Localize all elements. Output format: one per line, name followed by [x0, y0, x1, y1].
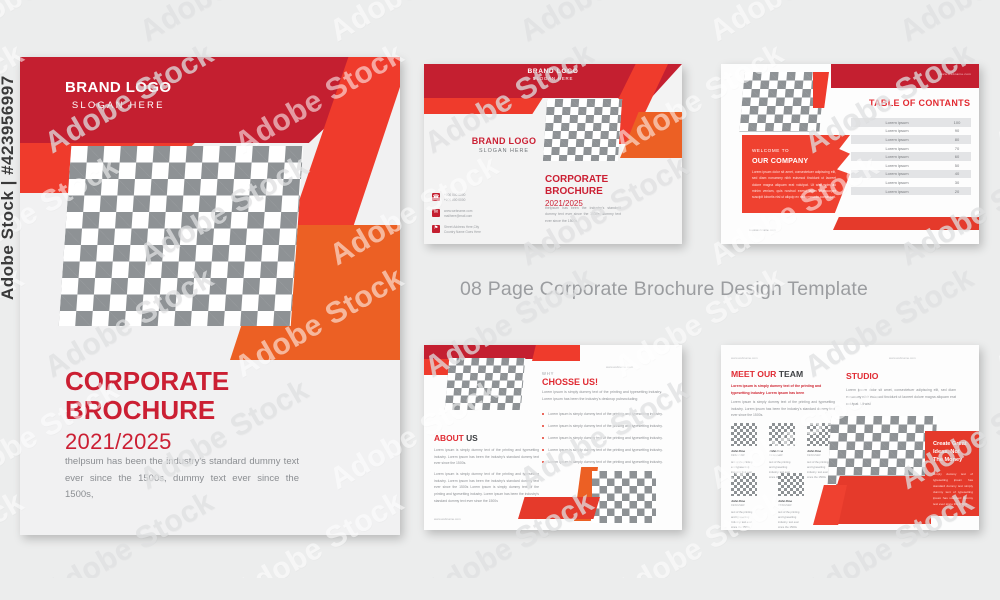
- watermark-text: Adobe Stock: [134, 0, 315, 49]
- cover-body-text: thelpsum has been the industry's standar…: [65, 454, 299, 504]
- toc-table: Lorem ipsum100Lorem ipsum90Lorem ipsum80…: [851, 118, 971, 195]
- bullet-item: Lorem ipsum is simply dummy text of the …: [542, 459, 664, 465]
- cover-title-line2: BROCHURE: [65, 396, 229, 425]
- sp1-contact-list: ☎+000 000 0000+000 000 0000✉www.webname.…: [432, 193, 481, 241]
- toc-row-number: 90: [943, 128, 971, 133]
- sp4-quote-line2: Ideas, Not: [933, 448, 973, 456]
- contact-text: Street Address Here,CityCountry Name Goe…: [444, 225, 481, 236]
- sp2-bottom-red-band: [833, 217, 979, 230]
- sp3-about-p2: Lorem ipsum is simply dummy text of the …: [434, 471, 539, 504]
- team-member-card[interactable]: John DoeDESIGNERtext of the printing and…: [769, 423, 795, 480]
- bullet-text: Lorem ipsum is simply dummy text of the …: [548, 459, 663, 465]
- toc-row-label: Lorem ipsum: [851, 128, 943, 133]
- cover-image-placeholder[interactable]: [59, 146, 304, 326]
- bullet-item: Lorem ipsum is simply dummy text of the …: [542, 411, 664, 417]
- cover-title-line1: CORPORATE: [65, 367, 229, 396]
- team-photo-placeholder[interactable]: [731, 423, 757, 446]
- sp3-image-placeholder-2[interactable]: [592, 471, 656, 523]
- bullet-item: Lorem ipsum is simply dummy text of the …: [542, 423, 664, 429]
- sp3-why-heading-block: WHY CHOSSE US!: [542, 371, 598, 387]
- sp2-red-tab-shape: [813, 72, 829, 108]
- team-photo-placeholder[interactable]: [769, 423, 795, 446]
- team-photo-placeholder[interactable]: [731, 473, 757, 496]
- toc-row[interactable]: Lorem ipsum90: [851, 127, 971, 136]
- sp3-about-title-b: US: [466, 433, 478, 443]
- team-member-role: DESIGNER: [769, 454, 795, 457]
- toc-row-number: 60: [943, 154, 971, 159]
- toc-row[interactable]: Lorem ipsum20: [851, 187, 971, 196]
- checkerboard-placeholder: [592, 471, 656, 523]
- sp1-header-logo-block: BRAND LOGO SLOGAN HERE: [424, 68, 682, 81]
- checkerboard-placeholder: [59, 146, 304, 326]
- team-photo-placeholder[interactable]: [778, 473, 804, 496]
- bullet-text: Lorem ipsum is simply dummy text of the …: [548, 435, 663, 441]
- sp3-bottom-red-band: [518, 497, 600, 519]
- sp2-toc-title: TABLE OF CONTANTS: [869, 98, 970, 108]
- sp1-brand-logo: BRAND LOGO: [454, 136, 554, 146]
- watermark-text: Adobe Stock: [324, 0, 505, 49]
- sp2-welcome-body: Lorem ipsum dolor sit amet, consectetuer…: [752, 169, 836, 200]
- contact-row: ✉www.webname.commailhere@mail.com: [432, 209, 481, 220]
- team-member-role: DESIGNER: [731, 454, 757, 457]
- checkerboard-placeholder: [731, 473, 757, 496]
- cover-brand-logo: BRAND LOGO: [65, 79, 172, 96]
- sp2-top-red-band: [831, 64, 979, 88]
- brochure-spread-meet-our-team[interactable]: www.webname.com www.webname.com MEET OUR…: [721, 345, 979, 530]
- sp3-footer-url: www.webname.com: [434, 517, 461, 521]
- brochure-spread-about-us[interactable]: www.webname.com WHY CHOSSE US! Lorem ips…: [424, 345, 682, 530]
- brochure-cover-page[interactable]: BRAND LOGO SLOGAN HERE CORPORATE BROCHUR…: [20, 57, 400, 535]
- phone-icon: ☎: [432, 193, 440, 201]
- toc-row-number: 80: [943, 137, 971, 142]
- contact-row: ⚑Street Address Here,CityCountry Name Go…: [432, 225, 481, 236]
- sp1-title-line1: CORPORATE: [545, 174, 608, 186]
- sp4-quote-line1: Create Great: [933, 440, 973, 448]
- bullet-item: Lorem ipsum is simply dummy text of the …: [542, 435, 664, 441]
- toc-row-label: Lorem ipsum: [851, 120, 943, 125]
- contact-text: www.webname.commailhere@mail.com: [444, 209, 472, 220]
- bullet-dot-icon: [542, 437, 544, 439]
- brochure-spread-front-back[interactable]: BRAND LOGO SLOGAN HERE BRAND LOGO SLOGAN…: [424, 64, 682, 244]
- adobe-stock-id-strip: Adobe Stock | #423956997: [0, 75, 18, 300]
- sp2-top-url: www.webname.com: [940, 72, 971, 76]
- bullet-dot-icon: [542, 461, 544, 463]
- team-member-name: John Doe: [731, 499, 757, 503]
- watermark-text: Adobe Stock: [894, 0, 1000, 49]
- checkerboard-placeholder: [769, 423, 795, 446]
- location-icon: ⚑: [432, 225, 440, 233]
- sp2-welcome-kicker: WELCOME TO: [752, 148, 789, 153]
- sp1-title-line2: BROCHURE: [545, 186, 608, 198]
- toc-row-label: Lorem ipsum: [851, 137, 943, 142]
- team-member-role: DESIGNER: [778, 504, 804, 507]
- sp2-image-placeholder[interactable]: [739, 72, 824, 132]
- bullet-dot-icon: [542, 449, 544, 451]
- sp3-about-p1: Lorem ipsum is simply dummy text of the …: [434, 447, 539, 467]
- sp1-header-slogan: SLOGAN HERE: [424, 76, 682, 81]
- checkerboard-placeholder: [543, 99, 622, 161]
- team-member-card[interactable]: John DoeDESIGNERtext of the printing and…: [731, 423, 757, 480]
- bullet-dot-icon: [542, 413, 544, 415]
- toc-row[interactable]: Lorem ipsum80: [851, 135, 971, 144]
- toc-row-label: Lorem ipsum: [851, 146, 943, 151]
- sp4-url-right: www.webname.com: [889, 356, 916, 360]
- sp4-quote-panel: Create Great Ideas, Not The Money simply…: [925, 431, 979, 516]
- sp1-image-placeholder[interactable]: [543, 99, 622, 161]
- sp4-meet-title-b: TEAM: [779, 369, 803, 379]
- toc-row[interactable]: Lorem ipsum70: [851, 144, 971, 153]
- toc-row-number: 30: [943, 180, 971, 185]
- watermark-text: Adobe Stock: [989, 261, 1000, 385]
- cover-logo-block: BRAND LOGO SLOGAN HERE: [65, 79, 172, 111]
- sp3-about-title-a: ABOUT: [434, 433, 466, 443]
- toc-row-number: 20: [943, 189, 971, 194]
- sp3-why-body: Lorem ipsum is simply dummy text of the …: [542, 389, 662, 403]
- sp4-meet-body: Lorem ipsum is simply dummy text of the …: [731, 399, 835, 419]
- watermark-text: Adobe Stock: [0, 0, 125, 49]
- email-icon: ✉: [432, 209, 440, 217]
- toc-row[interactable]: Lorem ipsum50: [851, 161, 971, 170]
- team-member-name: John Doe: [731, 449, 757, 453]
- checkerboard-placeholder: [445, 358, 526, 410]
- team-member-name: John Doe: [778, 499, 804, 503]
- brochure-spread-table-of-contents[interactable]: www.webname.com TABLE OF CONTANTS Lorem …: [721, 64, 979, 244]
- toc-row-number: 100: [943, 120, 971, 125]
- contact-row: ☎+000 000 0000+000 000 0000: [432, 193, 481, 204]
- toc-row-number: 50: [943, 163, 971, 168]
- watermark-text: Adobe Stock: [704, 0, 885, 49]
- bullet-item: Lorem ipsum is simply dummy text of the …: [542, 447, 664, 453]
- sp3-why-title: CHOSSE US!: [542, 377, 598, 387]
- watermark-text: Adobe Stock: [514, 0, 695, 49]
- toc-row[interactable]: Lorem ipsum40: [851, 170, 971, 179]
- cover-years: 2021/2025: [65, 429, 229, 455]
- sp4-studio-body: Lorem ipsum dolor sit amet, consectetuer…: [846, 387, 956, 407]
- poster-caption: 08 Page Corporate Brochure Design Templa…: [460, 278, 980, 301]
- team-member-bio: text of the printing and typesetting ind…: [778, 510, 804, 530]
- bullet-text: Lorem ipsum is simply dummy text of the …: [548, 423, 663, 429]
- sp4-url-left: www.webname.com: [731, 356, 758, 360]
- cover-slogan: SLOGAN HERE: [65, 100, 172, 111]
- toc-row-number: 40: [943, 171, 971, 176]
- toc-row-label: Lorem ipsum: [851, 189, 943, 194]
- sp4-meet-title-a: MEET OUR: [731, 369, 779, 379]
- contact-text: +000 000 0000+000 000 0000: [444, 193, 465, 204]
- cover-title-block: CORPORATE BROCHURE 2021/2025: [65, 367, 229, 455]
- checkerboard-placeholder: [731, 423, 757, 446]
- sp1-title-block: CORPORATE BROCHURE 2021/2025: [545, 174, 608, 208]
- sp4-quote-line3: The Money: [933, 456, 973, 464]
- toc-row-number: 70: [943, 146, 971, 151]
- sp4-meet-lead: Lorem ipsum is simply dummy text of the …: [731, 383, 835, 396]
- team-member-role: DESIGNER: [731, 504, 757, 507]
- checkerboard-placeholder: [778, 473, 804, 496]
- sp2-footer-url: www.webname.com: [749, 228, 776, 232]
- sp3-about-heading: ABOUT US: [434, 433, 478, 443]
- bottom-band: [0, 578, 1000, 600]
- team-member-card[interactable]: John DoeDESIGNERtext of the printing and…: [778, 473, 804, 530]
- sp3-top-url: www.webname.com: [606, 365, 633, 369]
- watermark-text: Adobe Stock: [989, 37, 1000, 161]
- poster-canvas: BRAND LOGO SLOGAN HERE CORPORATE BROCHUR…: [0, 0, 1000, 600]
- sp2-welcome-panel: WELCOME TO OUR COMPANY Lorem ipsum dolor…: [742, 135, 850, 213]
- toc-row-label: Lorem ipsum: [851, 154, 943, 159]
- toc-row-label: Lorem ipsum: [851, 180, 943, 185]
- sp1-body-text: thelpsum has been the industry's standar…: [545, 205, 621, 224]
- sp1-header-brand-logo: BRAND LOGO: [424, 68, 682, 75]
- toc-row-label: Lorem ipsum: [851, 163, 943, 168]
- sp3-red-block-mid: [532, 345, 580, 361]
- bullet-text: Lorem ipsum is simply dummy text of the …: [548, 411, 663, 417]
- sp1-back-logo-block: BRAND LOGO SLOGAN HERE: [454, 136, 554, 154]
- sp4-quote-text: Create Great Ideas, Not The Money: [933, 440, 973, 464]
- sp3-image-placeholder[interactable]: [445, 358, 526, 410]
- toc-row[interactable]: Lorem ipsum100: [851, 118, 971, 127]
- team-member-name: John Doe: [769, 449, 795, 453]
- sp4-meet-title: MEET OUR TEAM: [731, 369, 803, 379]
- team-member-card[interactable]: John DoeDESIGNERtext of the printing and…: [731, 473, 757, 530]
- sp3-why-kicker: WHY: [542, 371, 598, 376]
- sp4-quote-body: simply dummy text of typesetting ipsum h…: [933, 471, 973, 507]
- toc-row[interactable]: Lorem ipsum30: [851, 178, 971, 187]
- bullet-text: Lorem ipsum is simply dummy text of the …: [548, 447, 663, 453]
- sp1-slogan: SLOGAN HERE: [454, 148, 554, 154]
- bullet-dot-icon: [542, 425, 544, 427]
- sp4-studio-title: STUDIO: [846, 371, 878, 381]
- sp2-welcome-title: OUR COMPANY: [752, 156, 808, 165]
- toc-row-label: Lorem ipsum: [851, 171, 943, 176]
- checkerboard-placeholder: [739, 72, 824, 132]
- sp3-bullet-list: Lorem ipsum is simply dummy text of the …: [542, 411, 664, 471]
- toc-row[interactable]: Lorem ipsum60: [851, 152, 971, 161]
- team-member-bio: text of the printing and typesetting ind…: [731, 510, 757, 530]
